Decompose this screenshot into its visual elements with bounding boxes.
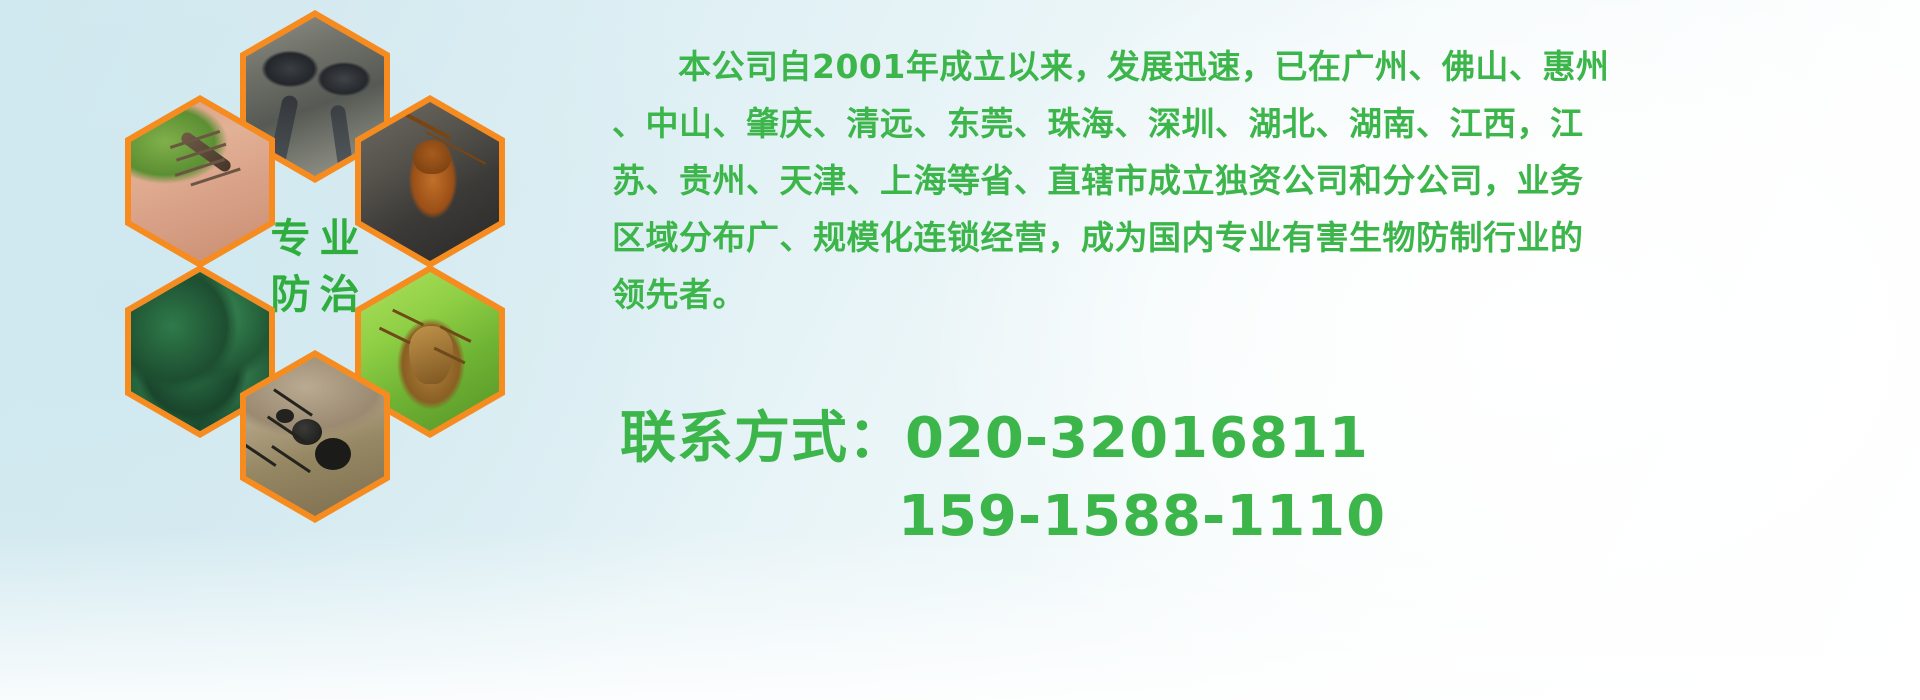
hex-badge-line1: 专业 xyxy=(262,219,369,259)
hex-badge-line2: 防治 xyxy=(262,275,369,315)
contact-phone-primary[interactable]: 联系方式：020-32016811 xyxy=(620,400,1386,478)
intro-line-1: 本公司自2001年成立以来，发展迅速，已在广州、佛山、惠州 xyxy=(612,38,1902,95)
intro-line-3: 苏、贵州、天津、上海等省、直辖市成立独资公司和分公司，业务 xyxy=(612,152,1902,209)
contact-phone-secondary[interactable]: 159-1588-1110 xyxy=(620,478,1386,556)
intro-line-4: 区域分布广、规模化连锁经营，成为国内专业有害生物防制行业的 xyxy=(612,209,1902,266)
ant-icon xyxy=(246,357,384,516)
promo-banner: 专业 防治 本公司自2001年成立以来，发展迅速，已在广州、佛山、惠州 、中山、… xyxy=(0,0,1920,700)
intro-line-5: 领先者。 xyxy=(612,266,1902,323)
hex-photo-ant-inner xyxy=(246,357,384,516)
intro-line-2: 、中山、肇庆、清远、东莞、珠海、深圳、湖北、湖南、江西，江 xyxy=(612,95,1902,152)
hex-photo-cluster: 专业 防治 xyxy=(90,10,590,555)
contact-block: 联系方式：020-32016811 159-1588-1110 xyxy=(620,400,1386,556)
company-intro-paragraph: 本公司自2001年成立以来，发展迅速，已在广州、佛山、惠州 、中山、肇庆、清远、… xyxy=(612,38,1902,323)
